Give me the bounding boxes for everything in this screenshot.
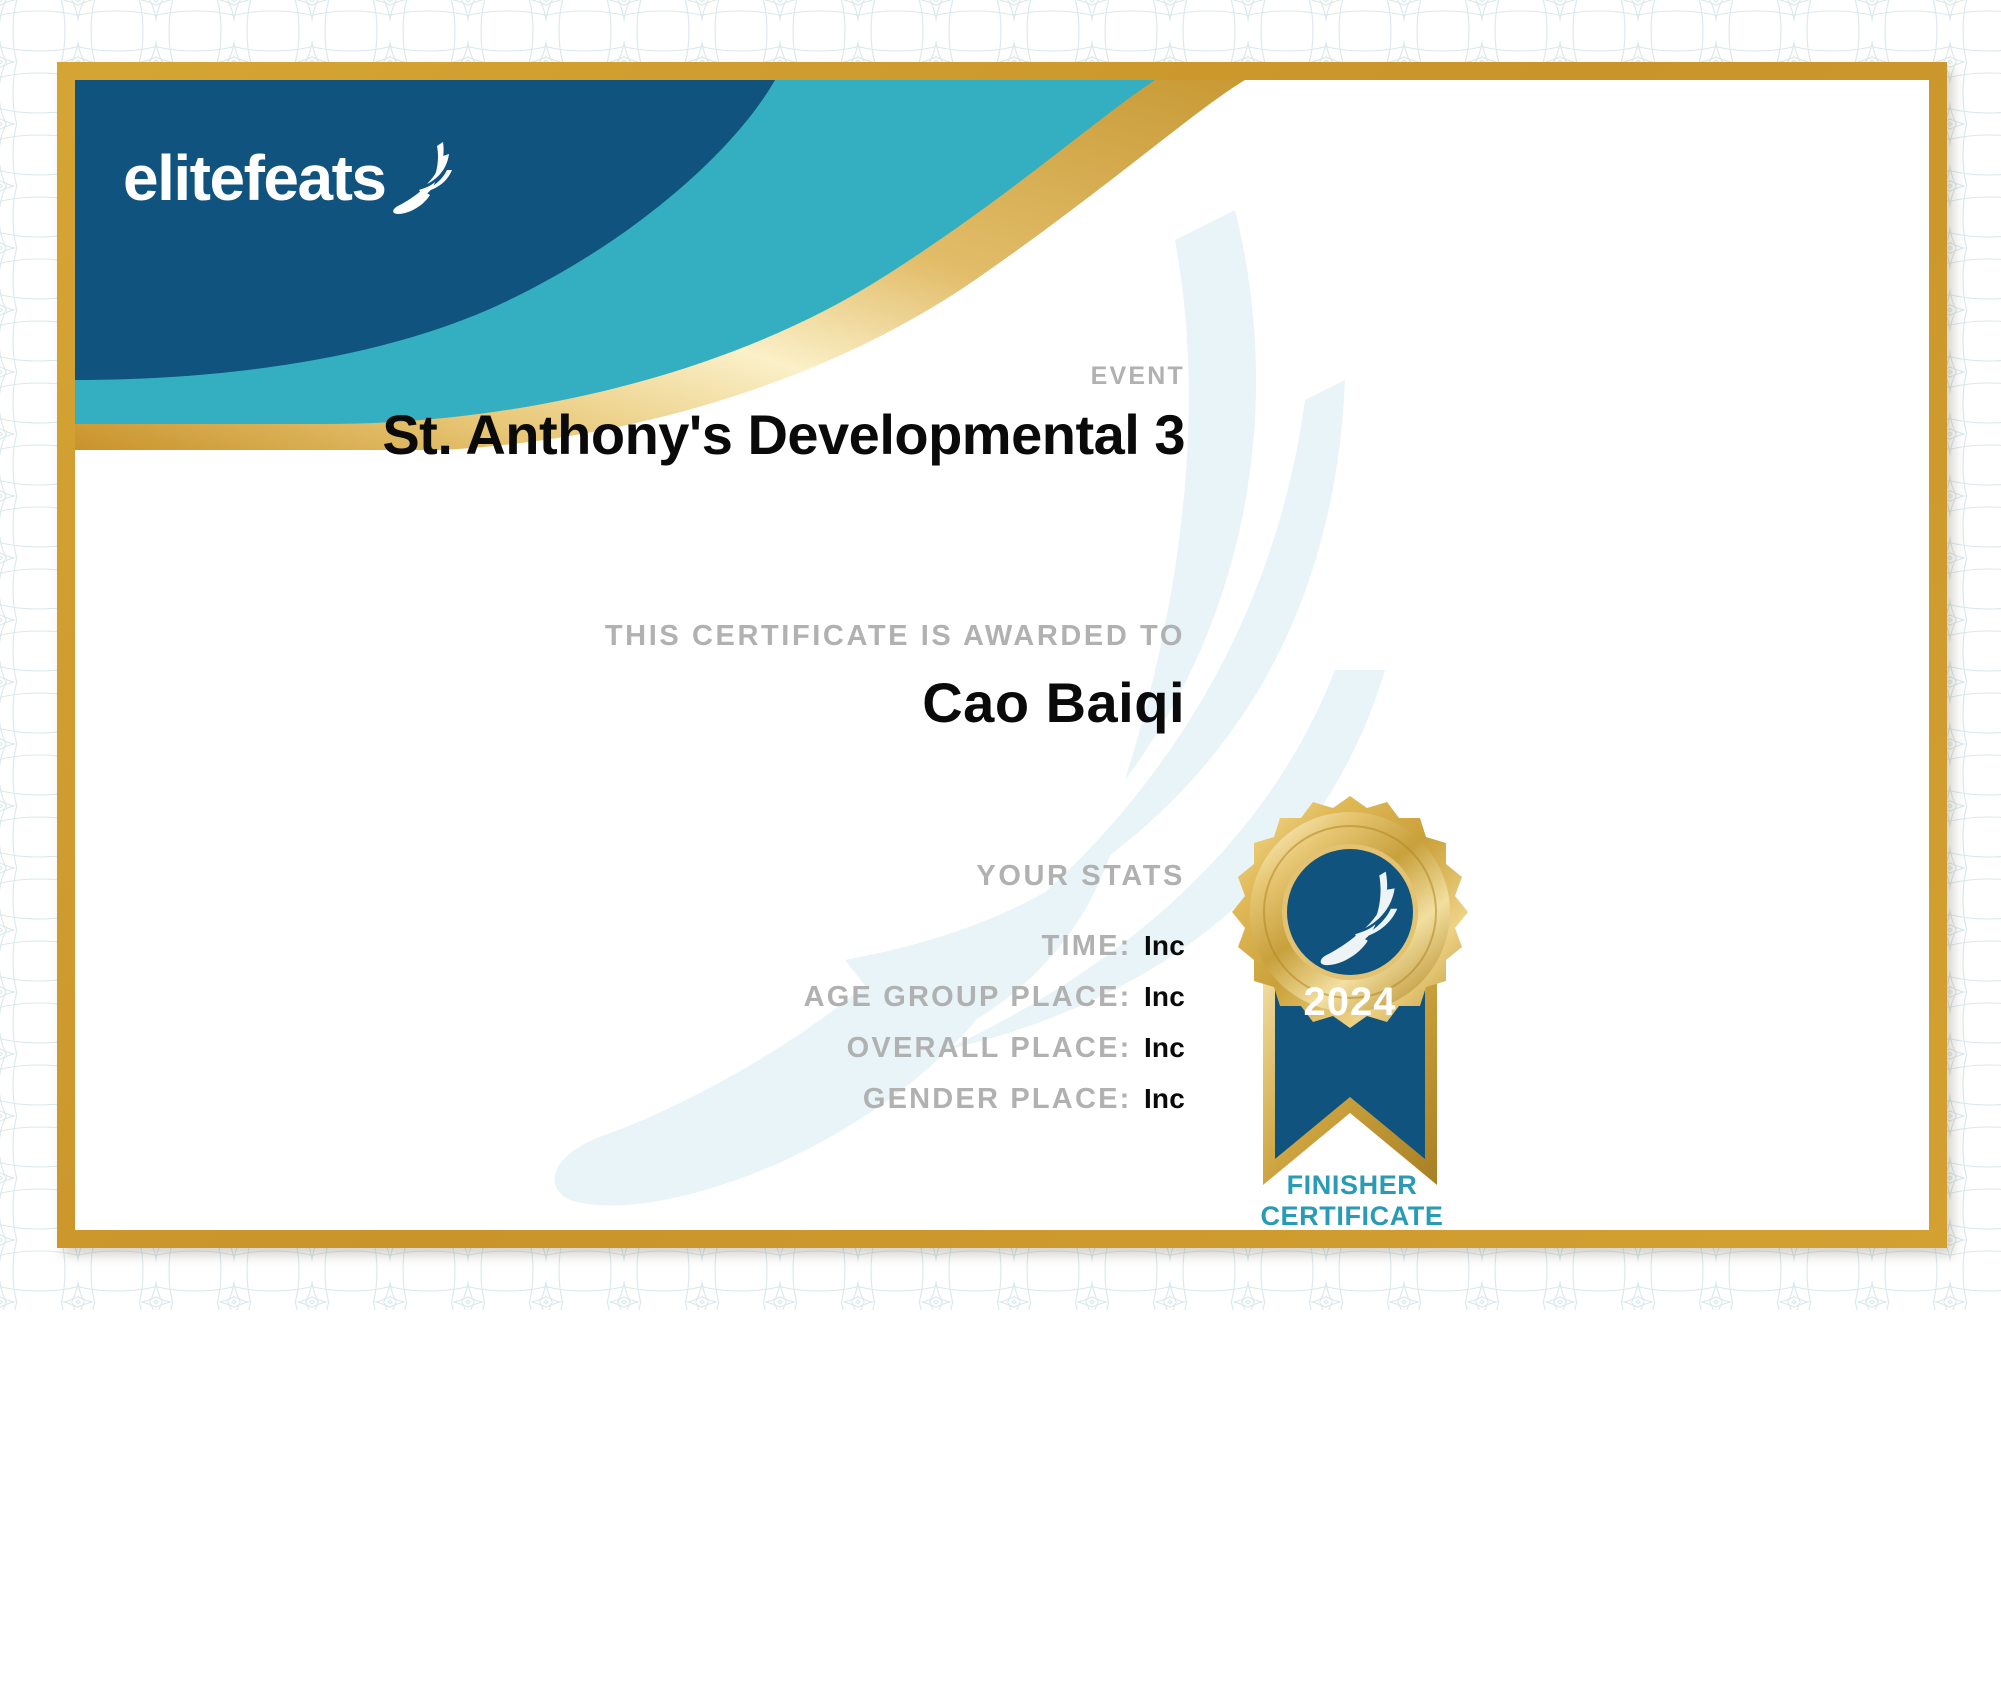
recipient-name: Cao Baiqi bbox=[75, 670, 1185, 735]
stat-label: OVERALL PLACE: bbox=[847, 1032, 1132, 1064]
stat-value: Inc bbox=[1144, 1083, 1185, 1114]
stat-row: GENDER PLACE: Inc bbox=[75, 1083, 1185, 1116]
stat-row: OVERALL PLACE: Inc bbox=[75, 1032, 1185, 1065]
stat-value: Inc bbox=[1144, 1032, 1185, 1063]
header-swoosh-art bbox=[75, 80, 1245, 450]
medal-caption-line1: FINISHER bbox=[1187, 1170, 1517, 1201]
winged-foot-icon bbox=[389, 138, 459, 218]
stat-label: TIME: bbox=[1042, 930, 1132, 962]
certificate-body: elitefeats bbox=[75, 80, 1929, 1230]
stat-row: TIME: Inc bbox=[75, 930, 1185, 963]
medal-caption: FINISHER CERTIFICATE bbox=[1187, 1170, 1517, 1230]
medal-year: 2024 bbox=[1205, 980, 1495, 1025]
medal-caption-line2: CERTIFICATE bbox=[1187, 1201, 1517, 1230]
stat-row: AGE GROUP PLACE: Inc bbox=[75, 981, 1185, 1014]
stat-value: Inc bbox=[1144, 981, 1185, 1012]
event-name: St. Anthony's Developmental 3 bbox=[75, 402, 1185, 467]
brand-logo: elitefeats bbox=[123, 138, 459, 218]
stat-label: AGE GROUP PLACE: bbox=[804, 981, 1132, 1013]
event-label: EVENT bbox=[75, 362, 1185, 391]
gold-border-frame: elitefeats bbox=[57, 62, 1947, 1248]
brand-wordmark: elitefeats bbox=[123, 146, 385, 210]
stats-list: TIME: Inc AGE GROUP PLACE: Inc OVERALL P… bbox=[75, 930, 1185, 1134]
your-stats-label: YOUR STATS bbox=[75, 860, 1185, 893]
stat-label: GENDER PLACE: bbox=[863, 1083, 1132, 1115]
stat-value: Inc bbox=[1144, 930, 1185, 961]
certificate-page: elitefeats bbox=[0, 0, 2001, 1700]
awarded-to-label: THIS CERTIFICATE IS AWARDED TO bbox=[75, 620, 1185, 653]
medal-year-text: 2024 bbox=[1304, 980, 1397, 1024]
